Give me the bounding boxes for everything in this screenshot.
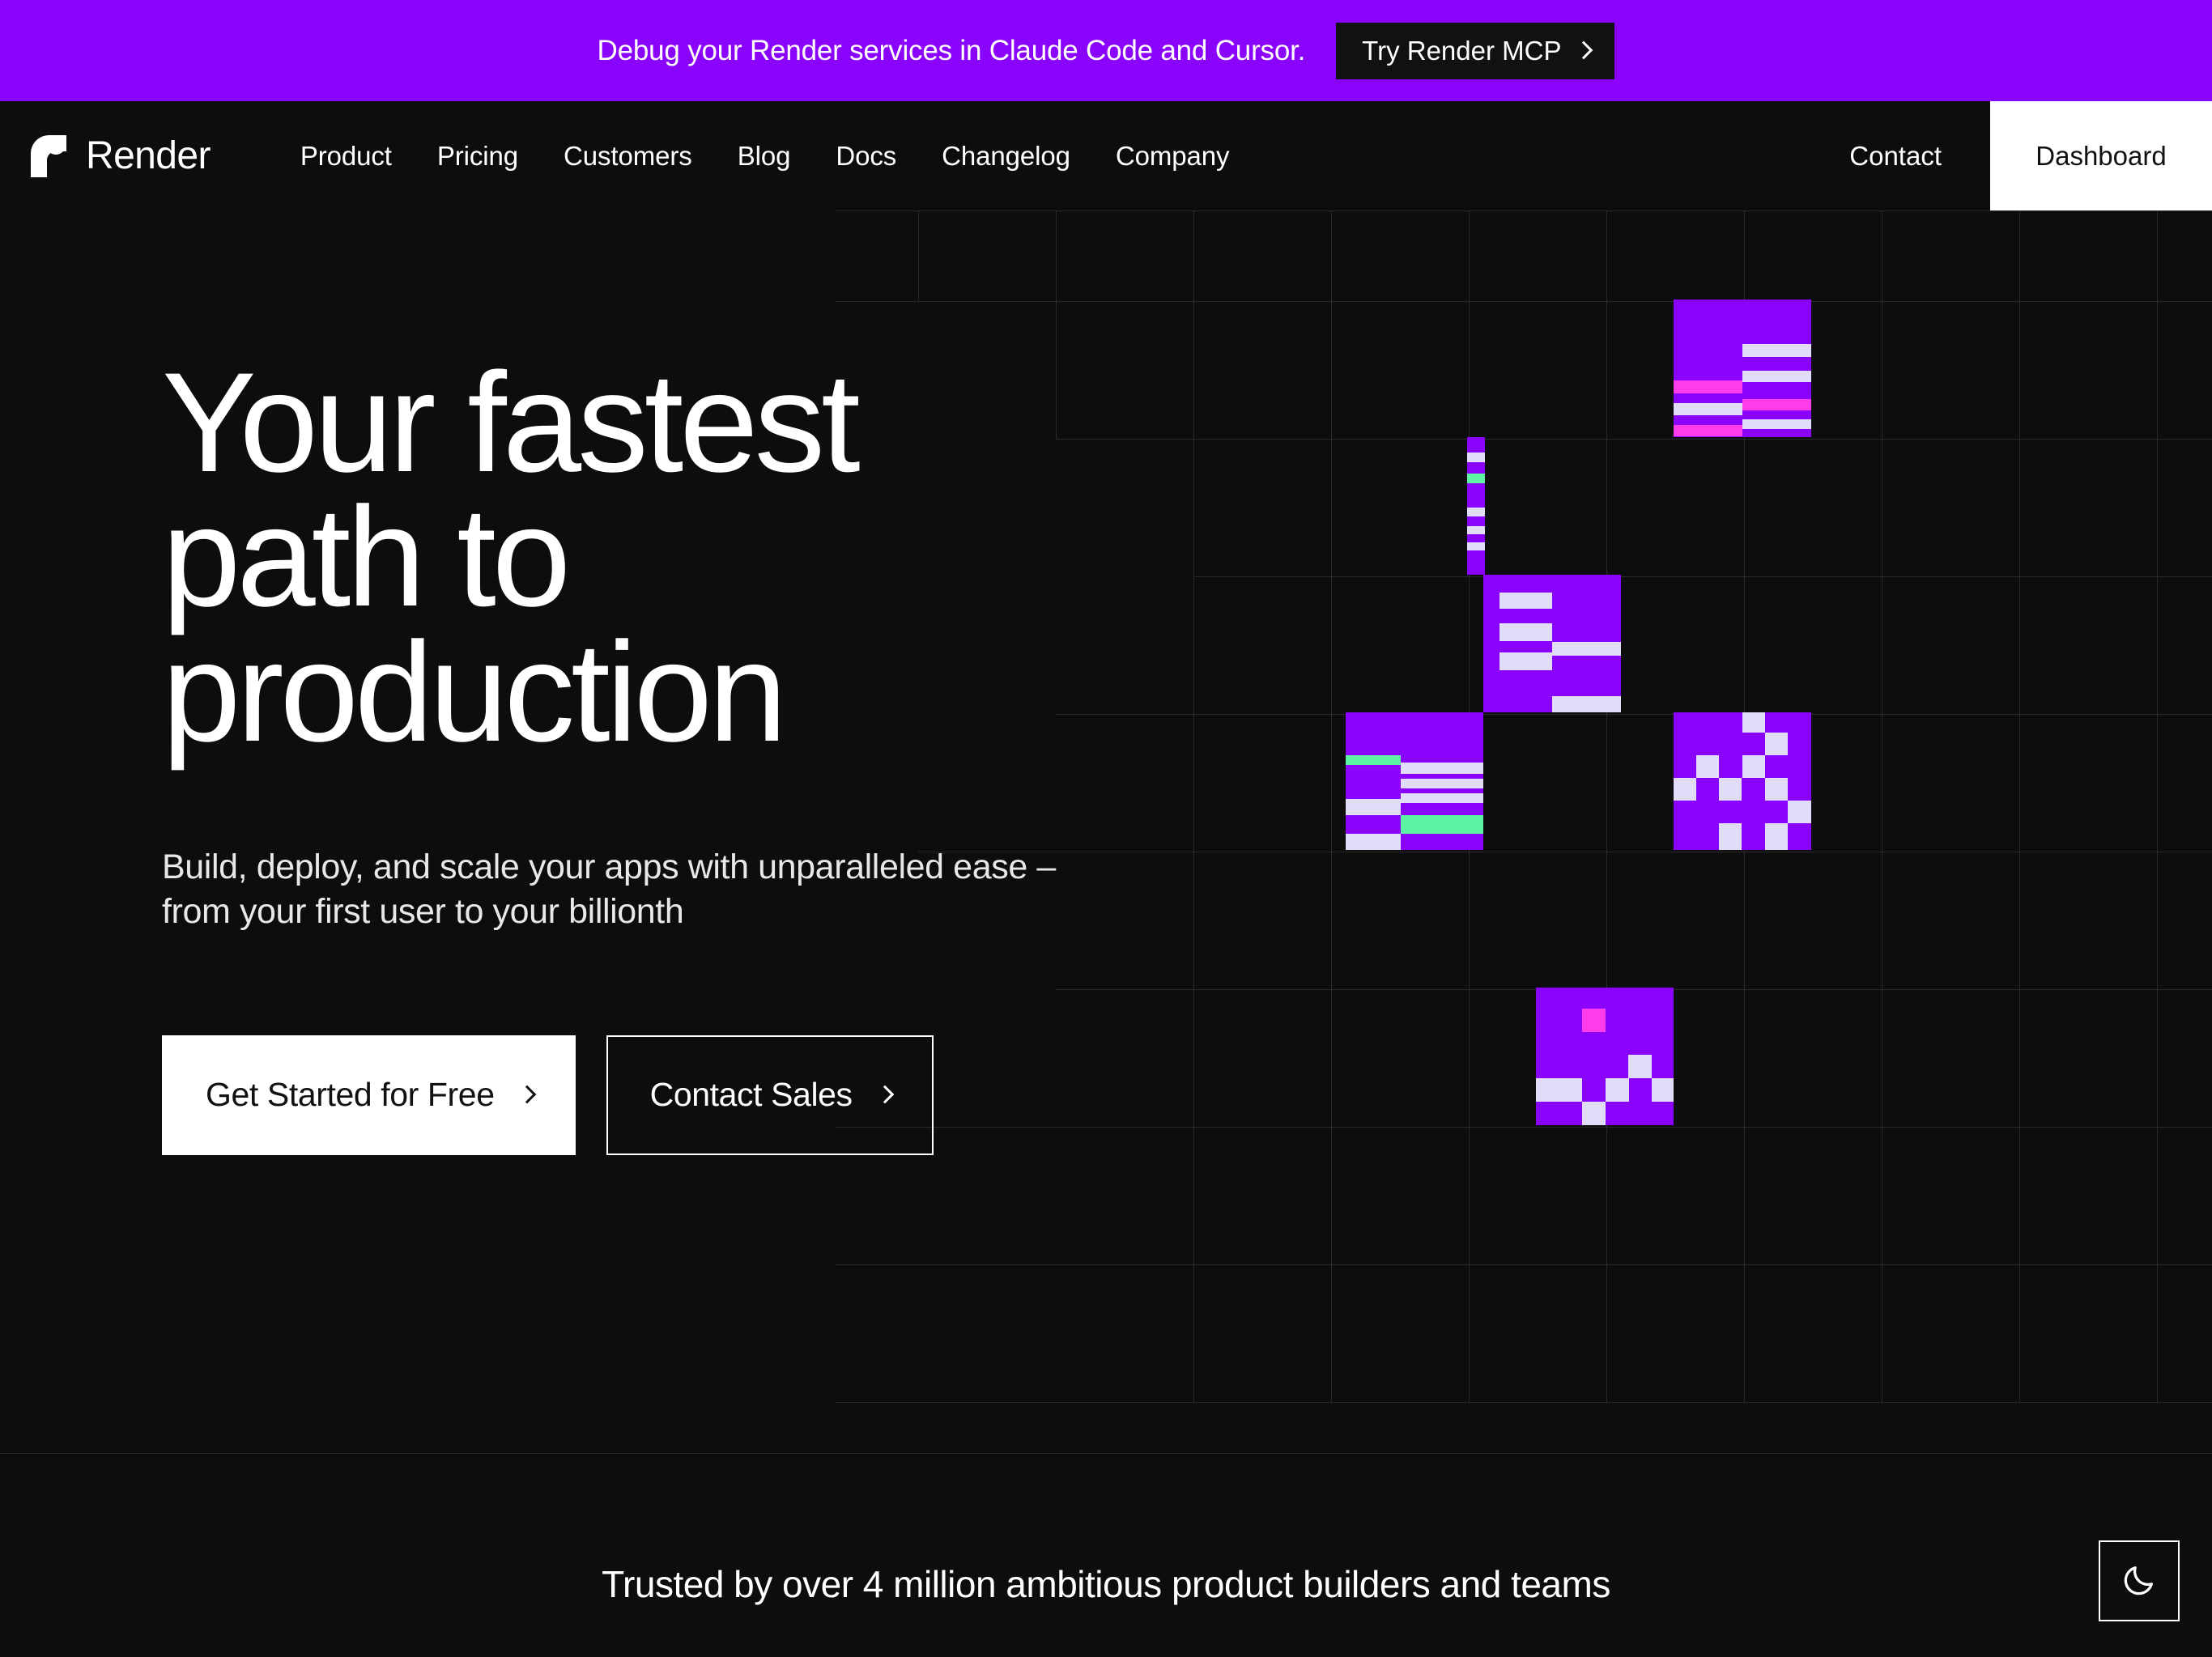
pixel-tile-pink-accent	[1536, 988, 1674, 1125]
nav-link-contact[interactable]: Contact	[1801, 101, 1990, 210]
dashboard-button[interactable]: Dashboard	[1990, 101, 2212, 210]
pixel-tile-striped-mint	[1346, 712, 1483, 850]
section-divider	[0, 1453, 2212, 1454]
nav-right-actions: Contact Dashboard	[1801, 101, 2212, 210]
nav-link-changelog[interactable]: Changelog	[942, 141, 1070, 172]
page-title: Your fastest path to production	[162, 356, 1174, 760]
moon-icon	[2121, 1561, 2158, 1601]
pixel-tile-striped-magenta	[1674, 300, 1811, 437]
announcement-banner: Debug your Render services in Claude Cod…	[0, 0, 2212, 101]
brand-logo-link[interactable]: Render	[0, 101, 211, 210]
nav-link-company[interactable]: Company	[1116, 141, 1230, 172]
get-started-button[interactable]: Get Started for Free	[162, 1035, 576, 1155]
trust-statement: Trusted by over 4 million ambitious prod…	[0, 1562, 2212, 1606]
try-render-mcp-label: Try Render MCP	[1362, 36, 1561, 66]
nav-links: Product Pricing Customers Blog Docs Chan…	[300, 101, 1230, 210]
contact-sales-label: Contact Sales	[650, 1076, 853, 1114]
contact-sales-button[interactable]: Contact Sales	[606, 1035, 934, 1155]
nav-link-product[interactable]: Product	[300, 141, 392, 172]
try-render-mcp-button[interactable]: Try Render MCP	[1336, 23, 1614, 79]
hero-copy: Your fastest path to production Build, d…	[162, 356, 1174, 1155]
render-logo-icon	[31, 135, 66, 177]
announcement-message: Debug your Render services in Claude Cod…	[598, 35, 1306, 67]
hero-section: Your fastest path to production Build, d…	[0, 210, 2212, 1453]
chevron-right-icon	[521, 1086, 532, 1104]
nav-link-pricing[interactable]: Pricing	[437, 141, 518, 172]
landing-page: Debug your Render services in Claude Cod…	[0, 0, 2212, 1657]
theme-toggle-button[interactable]	[2099, 1540, 2180, 1621]
brand-name: Render	[86, 134, 211, 178]
chevron-right-icon	[878, 1086, 890, 1104]
pixel-tile-thin-bar	[1467, 437, 1485, 575]
nav-link-blog[interactable]: Blog	[738, 141, 791, 172]
pixel-tile-checkered	[1674, 712, 1811, 850]
top-navigation: Render Product Pricing Customers Blog Do…	[0, 101, 2212, 210]
chevron-right-icon	[1577, 41, 1589, 60]
nav-link-customers[interactable]: Customers	[564, 141, 692, 172]
pixel-tile-striped-lavender	[1483, 575, 1621, 712]
nav-link-docs[interactable]: Docs	[836, 141, 896, 172]
hero-subheadline: Build, deploy, and scale your apps with …	[162, 845, 1174, 934]
hero-cta-row: Get Started for Free Contact Sales	[162, 1035, 1174, 1155]
get-started-label: Get Started for Free	[206, 1076, 495, 1114]
